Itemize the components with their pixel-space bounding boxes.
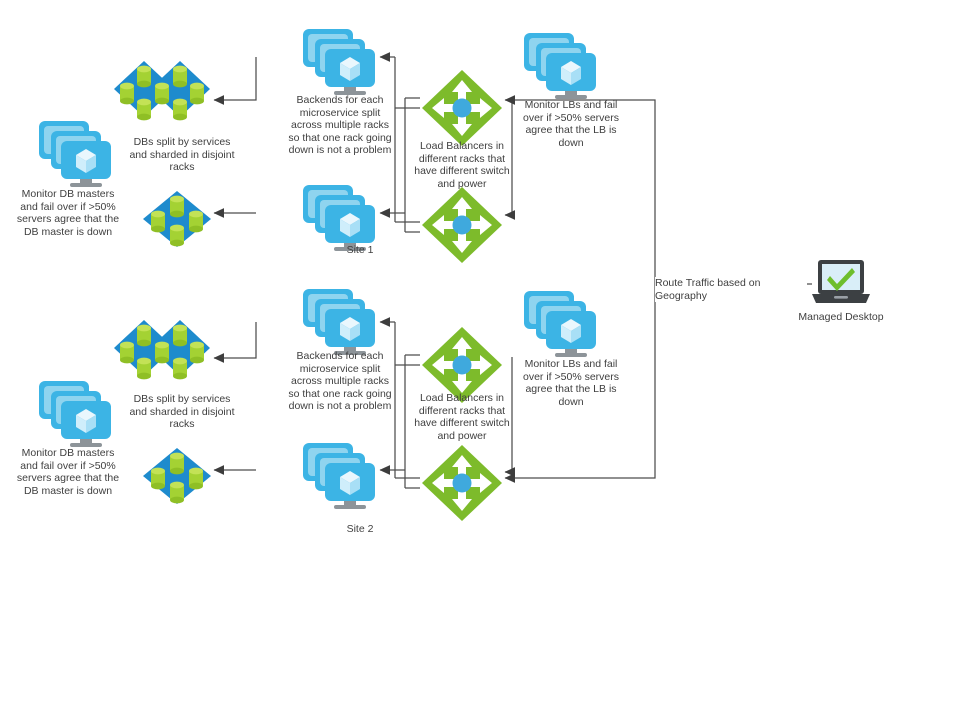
site-2-db-cluster-large-icon[interactable] <box>112 314 214 394</box>
managed-desktop-laptop-icon[interactable] <box>810 258 872 308</box>
site-1-db-cluster-small-icon[interactable] <box>140 188 214 250</box>
geo-routing-edge-label: Route Traffic based on Geography <box>655 277 807 302</box>
wire-backend2-to-dbcluster2 <box>214 322 256 358</box>
managed-desktop-label: Managed Desktop <box>786 311 896 324</box>
site-2-backend-caption: Backends for each microservice split acr… <box>278 350 402 413</box>
wire-backend1-to-dbcluster1 <box>214 57 256 100</box>
site-2-load-balancer-lower-icon[interactable] <box>420 443 504 523</box>
site-2-db-cluster-small-icon[interactable] <box>140 445 214 507</box>
site-2-lb-caption: Load Balancers in different racks that h… <box>400 392 524 442</box>
diagram-canvas: Monitor DB masters and fail over if >50%… <box>0 0 960 720</box>
site-1-load-balancer-lower-icon[interactable] <box>420 185 504 265</box>
site-1-lb-monitor-icon[interactable] <box>521 30 601 102</box>
site-2-db-cluster-caption: DBs split by services and sharded in dis… <box>118 393 246 431</box>
site-2-lb-monitor-caption: Monitor LBs and fail over if >50% server… <box>512 358 630 408</box>
site-1-db-cluster-large-icon[interactable] <box>112 55 214 135</box>
site-1-lb-monitor-caption: Monitor LBs and fail over if >50% server… <box>512 99 630 149</box>
site-2-db-monitor-caption: Monitor DB masters and fail over if >50%… <box>8 447 128 497</box>
site-1-db-monitor-icon[interactable] <box>36 118 116 190</box>
site-2-backend-stack-icon[interactable] <box>300 286 380 358</box>
site-1-db-cluster-caption: DBs split by services and sharded in dis… <box>118 136 246 174</box>
site-2-db-monitor-icon[interactable] <box>36 378 116 450</box>
site-2-lb-monitor-icon[interactable] <box>521 288 601 360</box>
site-1-label: Site 1 <box>330 244 390 256</box>
site-1-backend-caption: Backends for each microservice split acr… <box>278 94 402 157</box>
site-1-load-balancer-upper-icon[interactable] <box>420 68 504 148</box>
site-2-label: Site 2 <box>330 523 390 535</box>
site-1-lb-caption: Load Balancers in different racks that h… <box>400 140 524 190</box>
site-2-backend-stack-secondary-icon[interactable] <box>300 440 380 512</box>
site-1-backend-stack-icon[interactable] <box>300 26 380 98</box>
site-1-db-monitor-caption: Monitor DB masters and fail over if >50%… <box>8 188 128 238</box>
